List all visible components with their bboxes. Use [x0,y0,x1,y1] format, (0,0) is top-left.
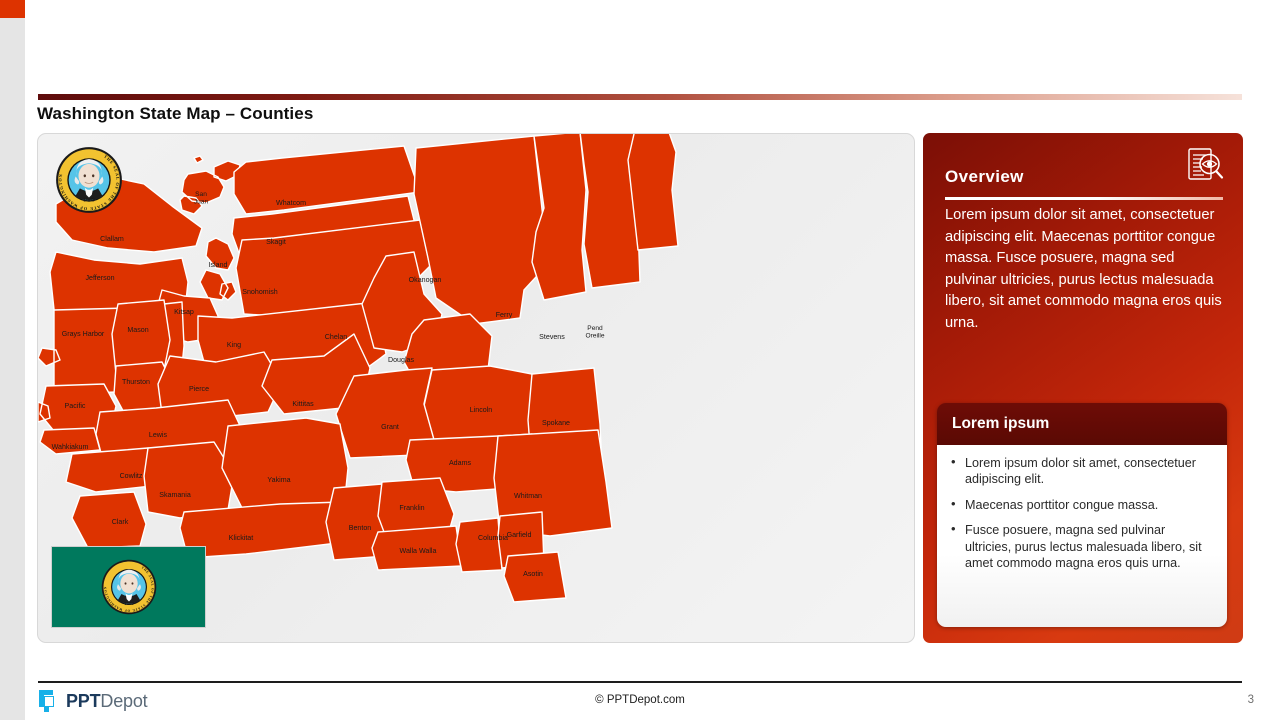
county-label-columbia: Columbia [478,534,508,542]
page-title: Washington State Map – Counties [37,104,313,124]
county-label-skamania: Skamania [159,491,191,499]
county-shape-pend-oreille [628,134,678,250]
left-decorative-band [0,0,25,720]
county-label-mason: Mason [127,326,148,334]
county-label-pacific: Pacific [65,402,86,410]
bullet-list: Lorem ipsum dolor sit amet, consectetuer… [945,455,1213,571]
flag-seal-svg: 1889 THE SEAL OF THE STATE OF WASHINGTON [100,558,158,616]
document-review-magnifier-icon [1186,147,1226,185]
county-label-douglas: Douglas [388,356,414,364]
county-label-asotin: Asotin [523,570,543,578]
svg-text:1889: 1889 [124,602,134,607]
county-shape-san-juan [180,161,240,214]
county-label-san-juan: SanJuan [194,191,209,206]
county-label-kittitas: Kittitas [292,400,314,408]
bullet-card-body: Lorem ipsum dolor sit amet, consectetuer… [937,445,1227,627]
county-label-clark: Clark [112,518,129,526]
county-label-franklin: Franklin [399,504,424,512]
state-seal-svg: 1889 THE SEAL OF THE STATE OF WASHINGTON [54,145,124,215]
county-shape-skamania [144,442,234,518]
list-item: Fusce posuere, magna sed pulvinar ultric… [963,522,1213,571]
county-label-grant: Grant [381,423,399,431]
county-label-grays-harbor: Grays Harbor [62,330,105,338]
county-label-walla-walla: Walla Walla [400,547,437,555]
county-label-okanogan: Okanogan [409,276,442,284]
county-label-kitsap: Kitsap [174,308,194,316]
bullet-card: Lorem ipsum Lorem ipsum dolor sit amet, … [937,403,1227,627]
county-shape-clark [72,492,146,548]
county-label-stevens: Stevens [539,333,565,341]
county-label-benton: Benton [349,524,372,532]
county-label-whatcom: Whatcom [276,199,306,207]
list-item: Maecenas porttitor congue massa. [963,497,1213,513]
overview-panel: Overview Lorem ipsum dolor sit amet, con… [923,133,1243,643]
county-label-island: Island [209,261,228,269]
county-label-garfield: Garfield [507,531,532,539]
county-label-pend-oreille: PendOreille [585,325,604,340]
county-label-skagit: Skagit [266,238,286,246]
county-label-snohomish: Snohomish [242,288,278,296]
county-shape-yakima [222,418,348,516]
copyright-text: © PPTDepot.com [0,694,1280,706]
page-number: 3 [1248,694,1254,706]
county-label-lincoln: Lincoln [470,406,493,414]
county-label-pierce: Pierce [189,385,209,393]
county-label-cowlitz: Cowlitz [120,472,143,480]
county-label-thurston: Thurston [122,378,150,386]
county-shape-island-misc [194,156,203,163]
bullet-card-title: Lorem ipsum [952,415,1049,433]
overview-divider [945,197,1223,200]
county-label-lewis: Lewis [149,431,168,439]
county-label-wahkiakum: Wahkiakum [52,443,89,451]
title-divider-rule [38,94,1242,100]
flag-seal: 1889 THE SEAL OF THE STATE OF WASHINGTON [100,558,158,616]
footer-divider [38,681,1242,683]
overview-heading: Overview [945,167,1024,187]
county-label-ferry: Ferry [496,311,513,319]
county-label-king: King [227,341,241,349]
county-label-klickitat: Klickitat [229,534,253,542]
county-shape-columbia [456,518,502,572]
county-label-clallam: Clallam [100,235,124,243]
county-label-yakima: Yakima [267,476,290,484]
county-label-jefferson: Jefferson [85,274,114,282]
county-shape-okanogan [414,136,548,324]
county-shape-island [200,238,236,300]
overview-body-text: Lorem ipsum dolor sit amet, consectetuer… [945,205,1227,334]
county-label-whitman: Whitman [514,492,542,500]
svg-text:1889: 1889 [83,198,95,204]
county-label-adams: Adams [449,459,472,467]
bullet-card-header: Lorem ipsum [937,403,1227,445]
washington-state-flag: 1889 THE SEAL OF THE STATE OF WASHINGTON [51,546,206,628]
map-panel: SanJuanWhatcomSkagitIslandClallamJeffers… [37,133,915,643]
county-shape-cowlitz [66,448,152,492]
list-item: Lorem ipsum dolor sit amet, consectetuer… [963,455,1213,488]
washington-state-seal: 1889 THE SEAL OF THE STATE OF WASHINGTON [54,145,124,215]
left-accent-block [0,0,25,18]
county-label-spokane: Spokane [542,419,570,427]
county-label-chelan: Chelan [325,333,348,341]
